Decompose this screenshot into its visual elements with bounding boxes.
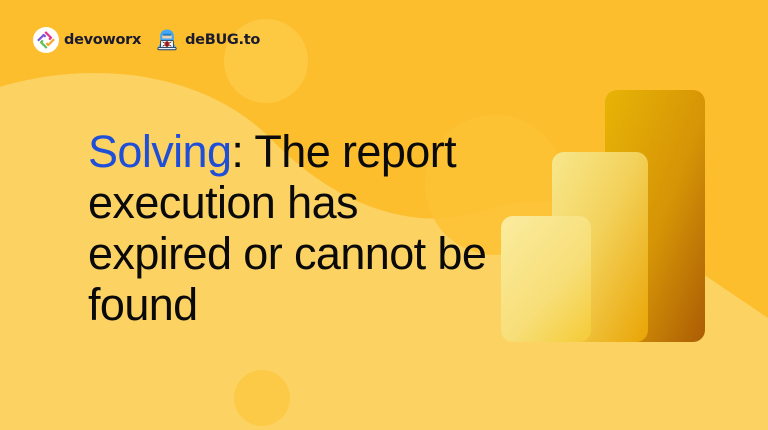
page-title: Solving: The report execution has expire… — [88, 126, 488, 330]
devoworx-wordmark: devoworx — [64, 33, 141, 48]
headline-keyword: Solving — [88, 126, 231, 177]
debugto-brand[interactable]: deBUG.to — [150, 27, 260, 53]
headline-separator: : — [231, 126, 243, 177]
devoworx-brand[interactable]: devoworx — [33, 27, 141, 53]
hacker-laptop-logo-icon — [154, 27, 180, 53]
power-bi-logo-icon — [498, 86, 713, 346]
brand-bar: devoworx deBUG.to — [33, 27, 260, 53]
banner-canvas: devoworx deBUG.to — [0, 0, 768, 430]
devoworx-diamond-logo-icon — [33, 27, 59, 53]
power-bi-bar-front — [501, 216, 591, 342]
debugto-wordmark: deBUG.to — [185, 33, 260, 48]
